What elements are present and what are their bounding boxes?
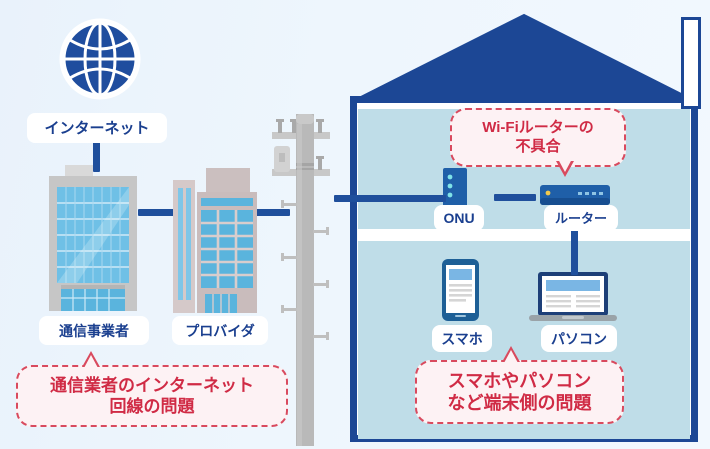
callout-router-issue-line2: 不具合 [515,138,560,157]
callout-device-issue: スマホやパソコン など端末側の問題 [415,360,624,424]
smartphone-icon [442,259,479,321]
callout-carrier-issue: 通信業者のインターネット 回線の問題 [16,365,288,427]
label-pc: パソコン [543,327,615,350]
label-provider-text: プロバイダ [185,324,254,338]
label-smartphone: スマホ [434,327,490,350]
connector-onu-router [494,194,536,201]
callout-router-issue-line1: Wi-Fiルーターの [482,119,594,138]
label-onu: ONU [436,207,482,229]
label-router-text: ルーター [555,212,607,225]
callout-device-issue-tail-fill [504,350,518,363]
label-router: ルーター [546,207,616,229]
callout-carrier-issue-line2: 回線の問題 [110,396,195,417]
label-internet-text: インターネット [44,121,149,136]
label-carrier-text: 通信事業者 [59,324,129,338]
label-carrier: 通信事業者 [41,318,147,343]
callout-carrier-issue-tail-fill [84,355,98,368]
callout-device-issue-line1: スマホやパソコン [448,370,591,393]
label-internet: インターネット [29,115,165,141]
label-provider: プロバイダ [174,318,266,343]
callout-device-issue-line2: など端末側の問題 [448,392,592,415]
diagram-canvas: インターネット [0,0,710,449]
globe-icon [59,18,141,100]
wifi-router-icon [540,185,610,205]
connector-router-pc [571,228,578,275]
callout-router-issue: Wi-Fiルーターの 不具合 [450,108,626,167]
connector-pole-house [334,195,446,202]
callout-router-issue-tail-fill [558,159,572,172]
label-smartphone-text: スマホ [441,332,483,346]
chimney-icon [681,17,701,109]
laptop-icon [529,272,617,322]
provider-building-icon [171,168,259,313]
connector-carrier-provider [138,209,175,216]
label-onu-text: ONU [443,211,474,225]
callout-carrier-issue-line1: 通信業者のインターネット [50,375,254,396]
carrier-building-icon [47,165,142,313]
label-pc-text: パソコン [551,332,607,346]
